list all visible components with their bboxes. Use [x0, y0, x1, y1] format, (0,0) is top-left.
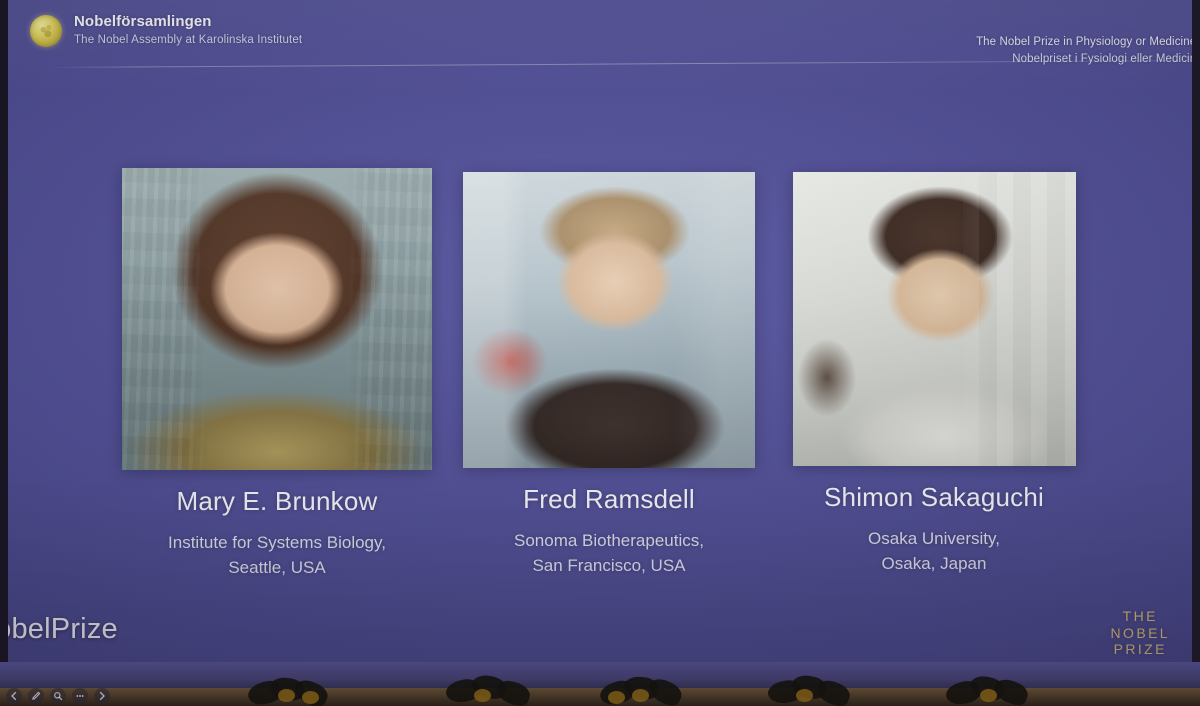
affiliation-line-2: San Francisco, USA: [514, 554, 704, 579]
flower-arrangement: [246, 670, 342, 704]
pencil-icon[interactable]: [28, 688, 44, 704]
laureate-card: Shimon Sakaguchi Osaka University, Osaka…: [785, 168, 1083, 576]
flower-arrangement: [446, 670, 542, 704]
affiliation-line-2: Osaka, Japan: [868, 552, 1000, 577]
affiliation-line-1: Institute for Systems Biology,: [168, 531, 386, 556]
affiliation-line-1: Sonoma Biotherapeutics,: [514, 529, 704, 554]
slide-header-left: Nobelförsamlingen The Nobel Assembly at …: [30, 14, 302, 48]
brand-line-2: NOBEL: [1111, 625, 1170, 642]
laureate-portrait: [793, 172, 1076, 466]
flower-arrangement: [766, 670, 862, 704]
organization-subtitle: The Nobel Assembly at Karolinska Institu…: [74, 33, 302, 48]
laureate-card: Fred Ramsdell Sonoma Biotherapeutics, Sa…: [459, 168, 759, 578]
organization-block: Nobelförsamlingen The Nobel Assembly at …: [74, 14, 302, 48]
prize-title-swedish: Nobelpriset i Fysiologi eller Medicin 2: [976, 51, 1192, 68]
laureate-card: Mary E. Brunkow Institute for Systems Bi…: [121, 168, 433, 580]
laureates-row: Mary E. Brunkow Institute for Systems Bi…: [8, 168, 1192, 580]
screen-bezel-left: [0, 0, 8, 672]
flower-arrangement: [946, 670, 1042, 704]
laureate-name: Fred Ramsdell: [523, 484, 695, 515]
laureate-portrait: [463, 172, 755, 468]
brand-line-1: THE: [1111, 608, 1170, 625]
flower-arrangement: [596, 670, 692, 704]
ellipsis-icon[interactable]: [72, 688, 88, 704]
back-arrow-icon[interactable]: [6, 688, 22, 704]
screen-bezel-right: [1192, 0, 1200, 672]
laureate-name: Shimon Sakaguchi: [824, 482, 1044, 513]
nobelprize-watermark: NobelPrize: [8, 613, 118, 646]
screenshot-root: Nobelförsamlingen The Nobel Assembly at …: [0, 0, 1200, 706]
affiliation-line-2: Seattle, USA: [168, 556, 386, 581]
slide-header-right: The Nobel Prize in Physiology or Medicin…: [976, 34, 1192, 67]
overlay-controls[interactable]: [6, 688, 110, 704]
laureate-name: Mary E. Brunkow: [177, 486, 378, 517]
nobel-prize-brand-mark: THE NOBEL PRIZE: [1111, 608, 1170, 658]
prize-title-english: The Nobel Prize in Physiology or Medicin…: [976, 34, 1192, 51]
affiliation-line-1: Osaka University,: [868, 527, 1000, 552]
brand-line-3: PRIZE: [1111, 641, 1170, 658]
laureate-affiliation: Sonoma Biotherapeutics, San Francisco, U…: [514, 529, 704, 578]
laureate-portrait: [122, 168, 432, 470]
nobel-medallion-icon: [30, 15, 62, 47]
projected-slide: Nobelförsamlingen The Nobel Assembly at …: [8, 0, 1192, 672]
search-icon[interactable]: [50, 688, 66, 704]
laureate-affiliation: Institute for Systems Biology, Seattle, …: [168, 531, 386, 580]
laureate-affiliation: Osaka University, Osaka, Japan: [868, 527, 1000, 576]
room-foreground: [0, 662, 1200, 706]
organization-name: Nobelförsamlingen: [74, 14, 302, 31]
forward-arrow-icon[interactable]: [94, 688, 110, 704]
